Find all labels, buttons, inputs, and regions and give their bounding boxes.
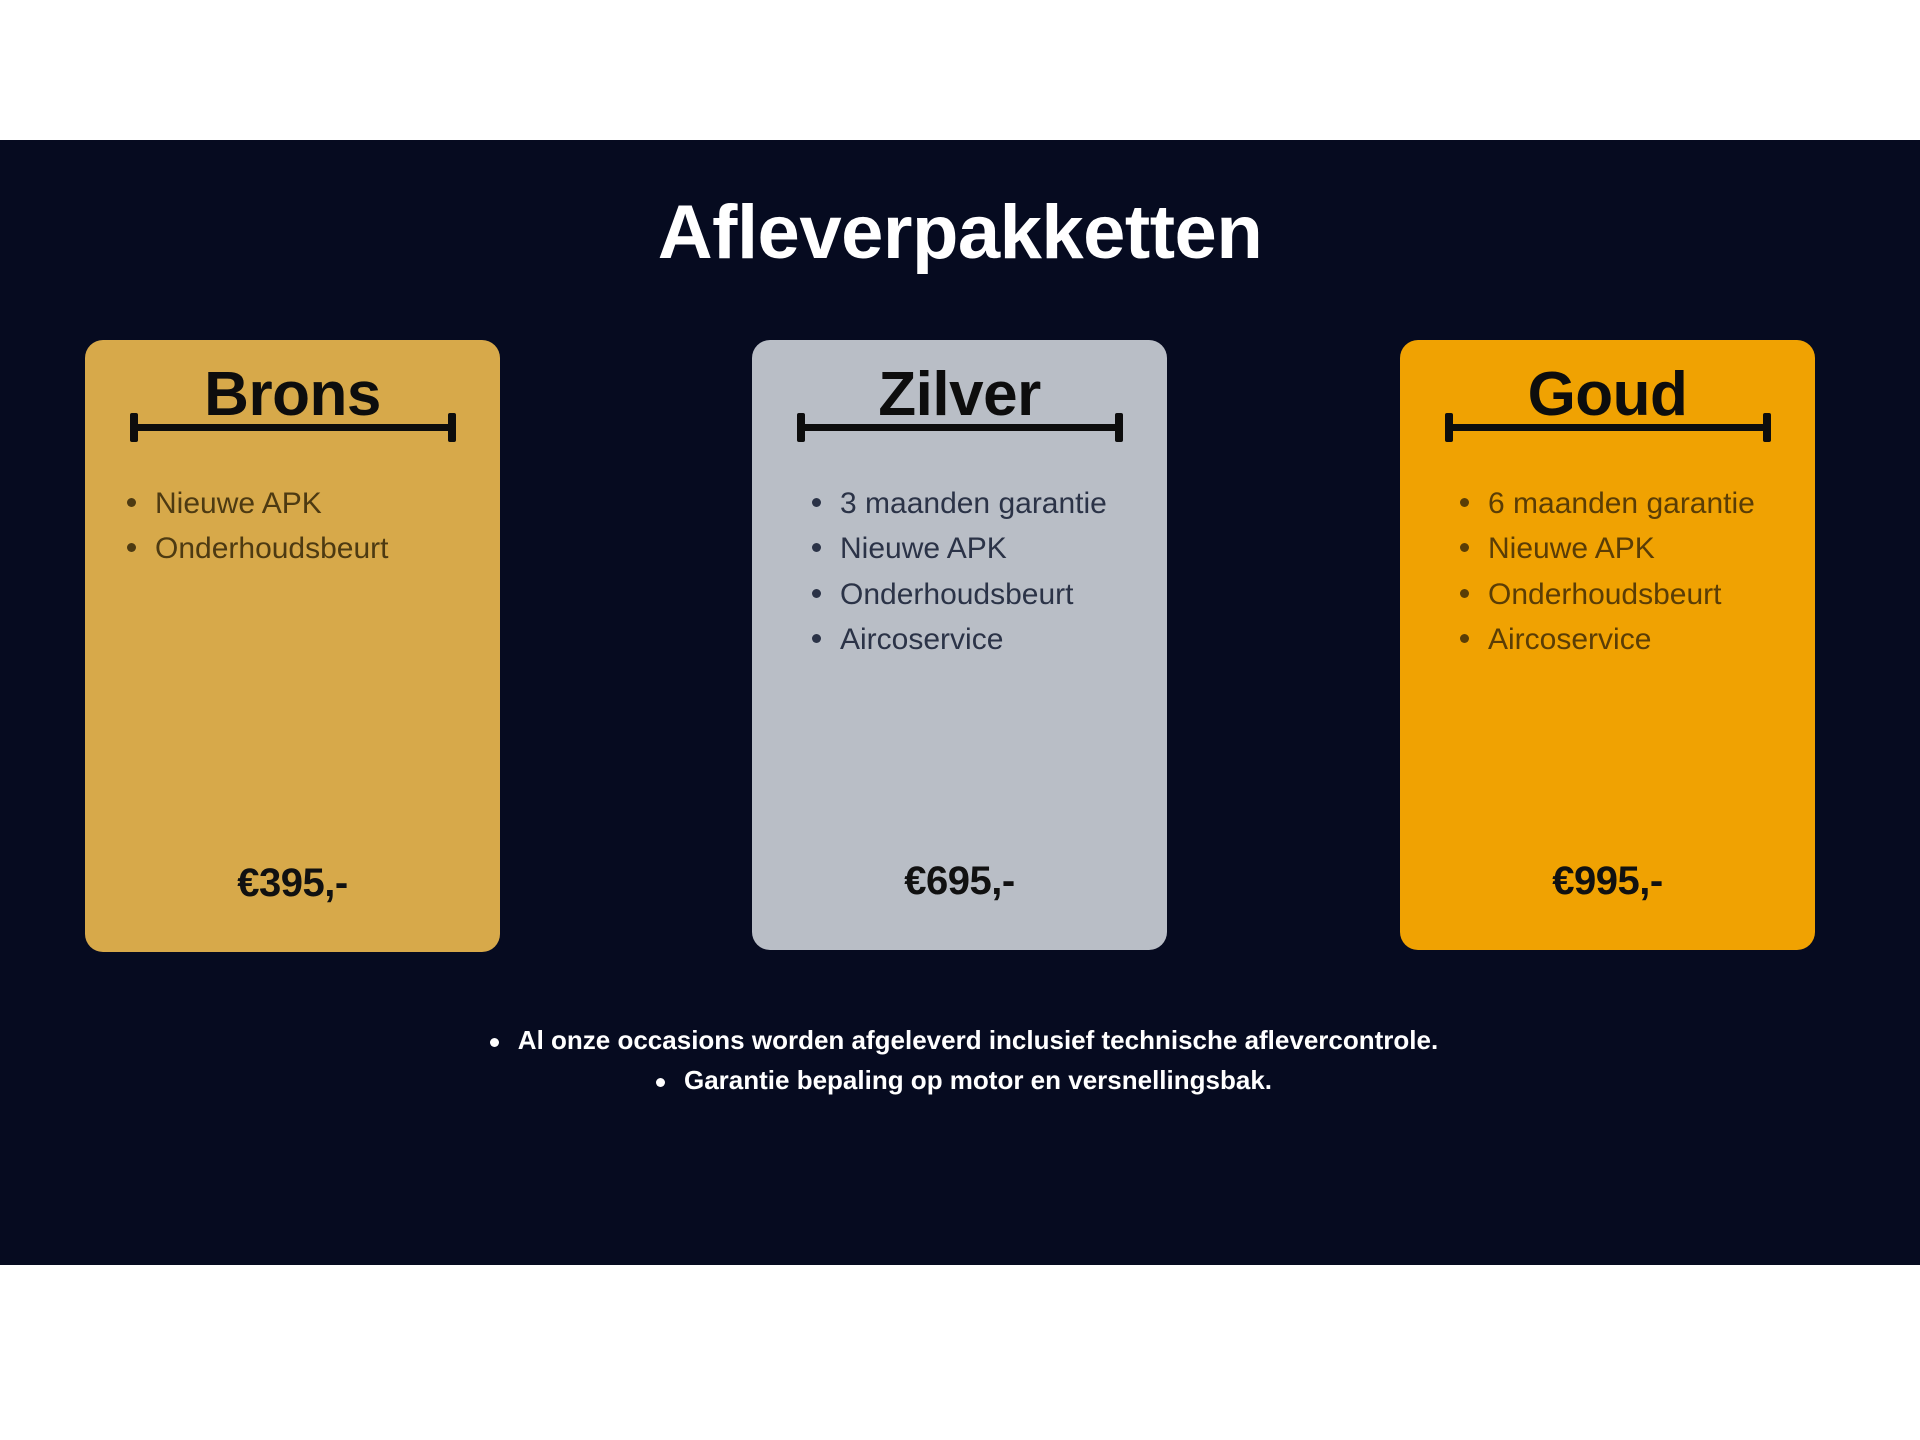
package-underline-zilver: [795, 413, 1125, 441]
bullet-icon: [1460, 589, 1469, 598]
footnote-row: Garantie bepaling op motor en versnellin…: [0, 1060, 1920, 1100]
feature-label: Onderhoudsbeurt: [840, 578, 1074, 611]
underline-bar: [1449, 424, 1767, 431]
feature-label: Aircoservice: [1488, 623, 1651, 656]
underline-cap-right: [1115, 413, 1123, 442]
package-price-zilver: €695,-: [752, 859, 1167, 904]
footnote-list: Al onze occasions worden afgeleverd incl…: [0, 1020, 1920, 1101]
bullet-icon: [1460, 543, 1469, 552]
package-card-brons[interactable]: Brons Nieuwe APK Onderhoudsbeurt €395,-: [85, 340, 500, 952]
bullet-icon: [812, 589, 821, 598]
package-card-row: Brons Nieuwe APK Onderhoudsbeurt €395,- …: [0, 340, 1920, 960]
list-item: Onderhoudsbeurt: [840, 576, 1167, 614]
bullet-icon: [1460, 634, 1469, 643]
feature-label: Nieuwe APK: [155, 487, 322, 520]
bullet-icon: [1460, 498, 1469, 507]
feature-label: 6 maanden garantie: [1488, 487, 1755, 520]
list-item: Aircoservice: [840, 621, 1167, 659]
underline-cap-right: [1763, 413, 1771, 442]
footnote-item: Garantie bepaling op motor en versnellin…: [648, 1060, 1272, 1100]
bullet-icon: [812, 498, 821, 507]
footnote-label: Garantie bepaling op motor en versnellin…: [684, 1065, 1272, 1095]
package-price-goud: €995,-: [1400, 859, 1815, 904]
list-item: 3 maanden garantie: [840, 485, 1167, 523]
bullet-icon: [127, 498, 136, 507]
package-card-goud[interactable]: Goud 6 maanden garantie Nieuwe APK Onder…: [1400, 340, 1815, 950]
page-title: Afleverpakketten: [0, 195, 1920, 271]
feature-list-goud: 6 maanden garantie Nieuwe APK Onderhouds…: [1488, 485, 1815, 660]
bullet-icon: [812, 634, 821, 643]
list-item: Nieuwe APK: [840, 530, 1167, 568]
feature-label: 3 maanden garantie: [840, 487, 1107, 520]
footnote-row: Al onze occasions worden afgeleverd incl…: [0, 1020, 1920, 1060]
package-underline-goud: [1443, 413, 1773, 441]
slide-canvas: Afleverpakketten Brons Nieuwe APK Onderh…: [0, 140, 1920, 1265]
list-item: Nieuwe APK: [155, 485, 500, 523]
feature-label: Aircoservice: [840, 623, 1003, 656]
footnote-label: Al onze occasions worden afgeleverd incl…: [518, 1025, 1438, 1055]
bullet-icon: [490, 1038, 499, 1047]
list-item: Nieuwe APK: [1488, 530, 1815, 568]
feature-list-zilver: 3 maanden garantie Nieuwe APK Onderhouds…: [840, 485, 1167, 660]
list-item: Onderhoudsbeurt: [155, 530, 500, 568]
bullet-icon: [656, 1078, 665, 1087]
feature-label: Onderhoudsbeurt: [1488, 578, 1722, 611]
package-card-zilver[interactable]: Zilver 3 maanden garantie Nieuwe APK Ond…: [752, 340, 1167, 950]
package-price-brons: €395,-: [85, 861, 500, 906]
feature-label: Nieuwe APK: [840, 532, 1007, 565]
bullet-icon: [812, 543, 821, 552]
list-item: 6 maanden garantie: [1488, 485, 1815, 523]
footnote-item: Al onze occasions worden afgeleverd incl…: [482, 1020, 1438, 1060]
underline-bar: [134, 424, 452, 431]
underline-bar: [801, 424, 1119, 431]
list-item: Onderhoudsbeurt: [1488, 576, 1815, 614]
feature-label: Onderhoudsbeurt: [155, 532, 389, 565]
feature-label: Nieuwe APK: [1488, 532, 1655, 565]
package-underline-brons: [128, 413, 458, 441]
feature-list-brons: Nieuwe APK Onderhoudsbeurt: [155, 485, 500, 569]
underline-cap-right: [448, 413, 456, 442]
list-item: Aircoservice: [1488, 621, 1815, 659]
bullet-icon: [127, 543, 136, 552]
